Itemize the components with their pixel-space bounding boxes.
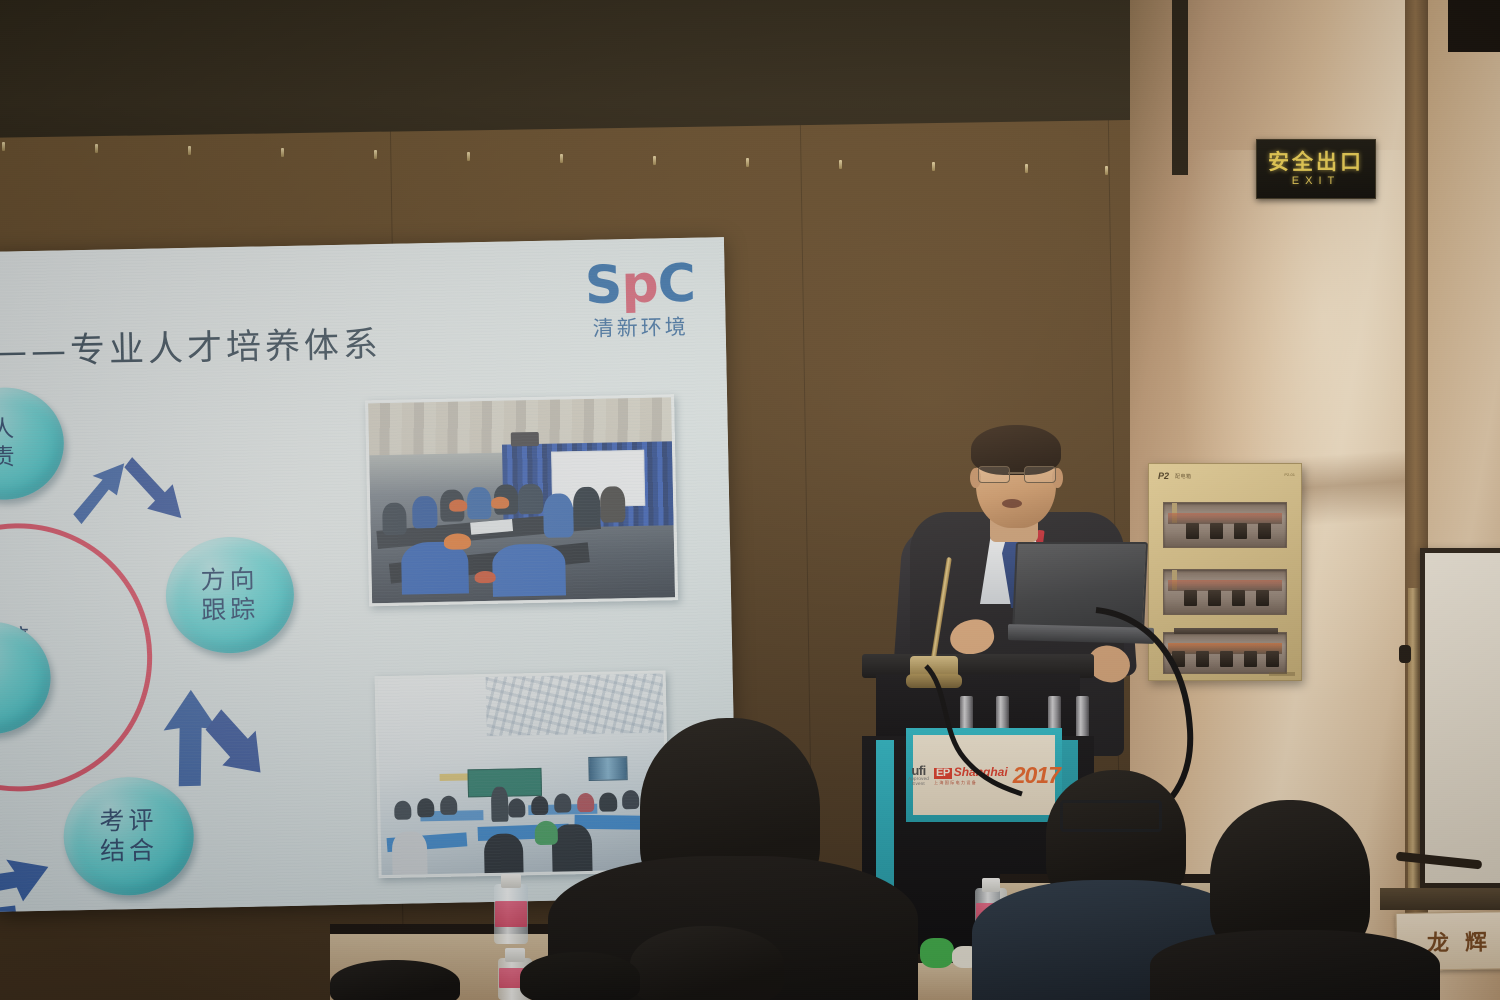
panel-label: P2 [1158, 471, 1169, 481]
audience-head-2 [630, 926, 784, 1000]
exit-sign-english: EXIT [1292, 176, 1340, 187]
audience-eyeglasses [1060, 800, 1162, 832]
laptop-screen [1012, 542, 1148, 632]
projection-screen: SpC 清新环境 ——专业人才培养体系 人才培体系 人责 方向跟踪 考评结合 [0, 237, 737, 912]
wall-corner-shadow [1172, 0, 1188, 175]
podium-event-sign: ufi Approved Event EP Shanghai 上海国际电力设备 … [906, 728, 1062, 822]
electrical-panel-p2: P2 配电箱 P2-01 [1148, 463, 1302, 681]
presenter-glasses [978, 466, 1054, 481]
ep-shanghai-logo: EP Shanghai 上海国际电力设备 [934, 766, 1008, 785]
ep-year: 2017 [1013, 762, 1060, 789]
whiteboard-knob [1399, 645, 1411, 663]
mic-base-cap [906, 674, 962, 688]
panel-connector-row-1 [1163, 502, 1287, 548]
water-bottle-1 [494, 874, 528, 944]
exit-sign-chinese: 安全出口 [1268, 152, 1364, 173]
laptop-keyboard-base[interactable] [1008, 624, 1154, 644]
whiteboard-stand-leg [1408, 588, 1419, 888]
mic-gooseneck-stem [930, 557, 952, 664]
audience-head-6 [520, 952, 640, 1000]
ep-chinese-subtitle: 上海国际电力设备 [934, 781, 1008, 785]
audience-body-4 [1150, 930, 1440, 1000]
panel-footer-tag [1269, 672, 1295, 676]
ufi-logo: ufi Approved Event [908, 764, 929, 786]
ep-badge: EP [934, 768, 952, 779]
panel-corner-tag: P2-01 [1284, 472, 1295, 477]
ep-city: Shanghai [954, 766, 1008, 778]
whiteboard [1420, 548, 1500, 888]
emergency-exit-sign: 安全出口 EXIT [1256, 139, 1376, 199]
panel-connector-row-3 [1163, 632, 1287, 674]
nameplate-given: 辉 [1465, 924, 1488, 956]
ufi-approved-line2: Event [912, 782, 925, 787]
screen-vignette [0, 237, 737, 912]
audience-head-5 [330, 960, 460, 1000]
panel-sublabel: 配电箱 [1175, 473, 1192, 480]
nameplate-shelf [1380, 888, 1500, 910]
presenter-laptop[interactable] [1008, 542, 1148, 652]
panel-connector-row-2 [1163, 569, 1287, 615]
ceiling-dark-corner [1448, 0, 1500, 52]
conference-photo-scene: 安全出口 EXIT P2 配电箱 P2-01 [0, 0, 1500, 1000]
gooseneck-microphone [900, 556, 970, 686]
